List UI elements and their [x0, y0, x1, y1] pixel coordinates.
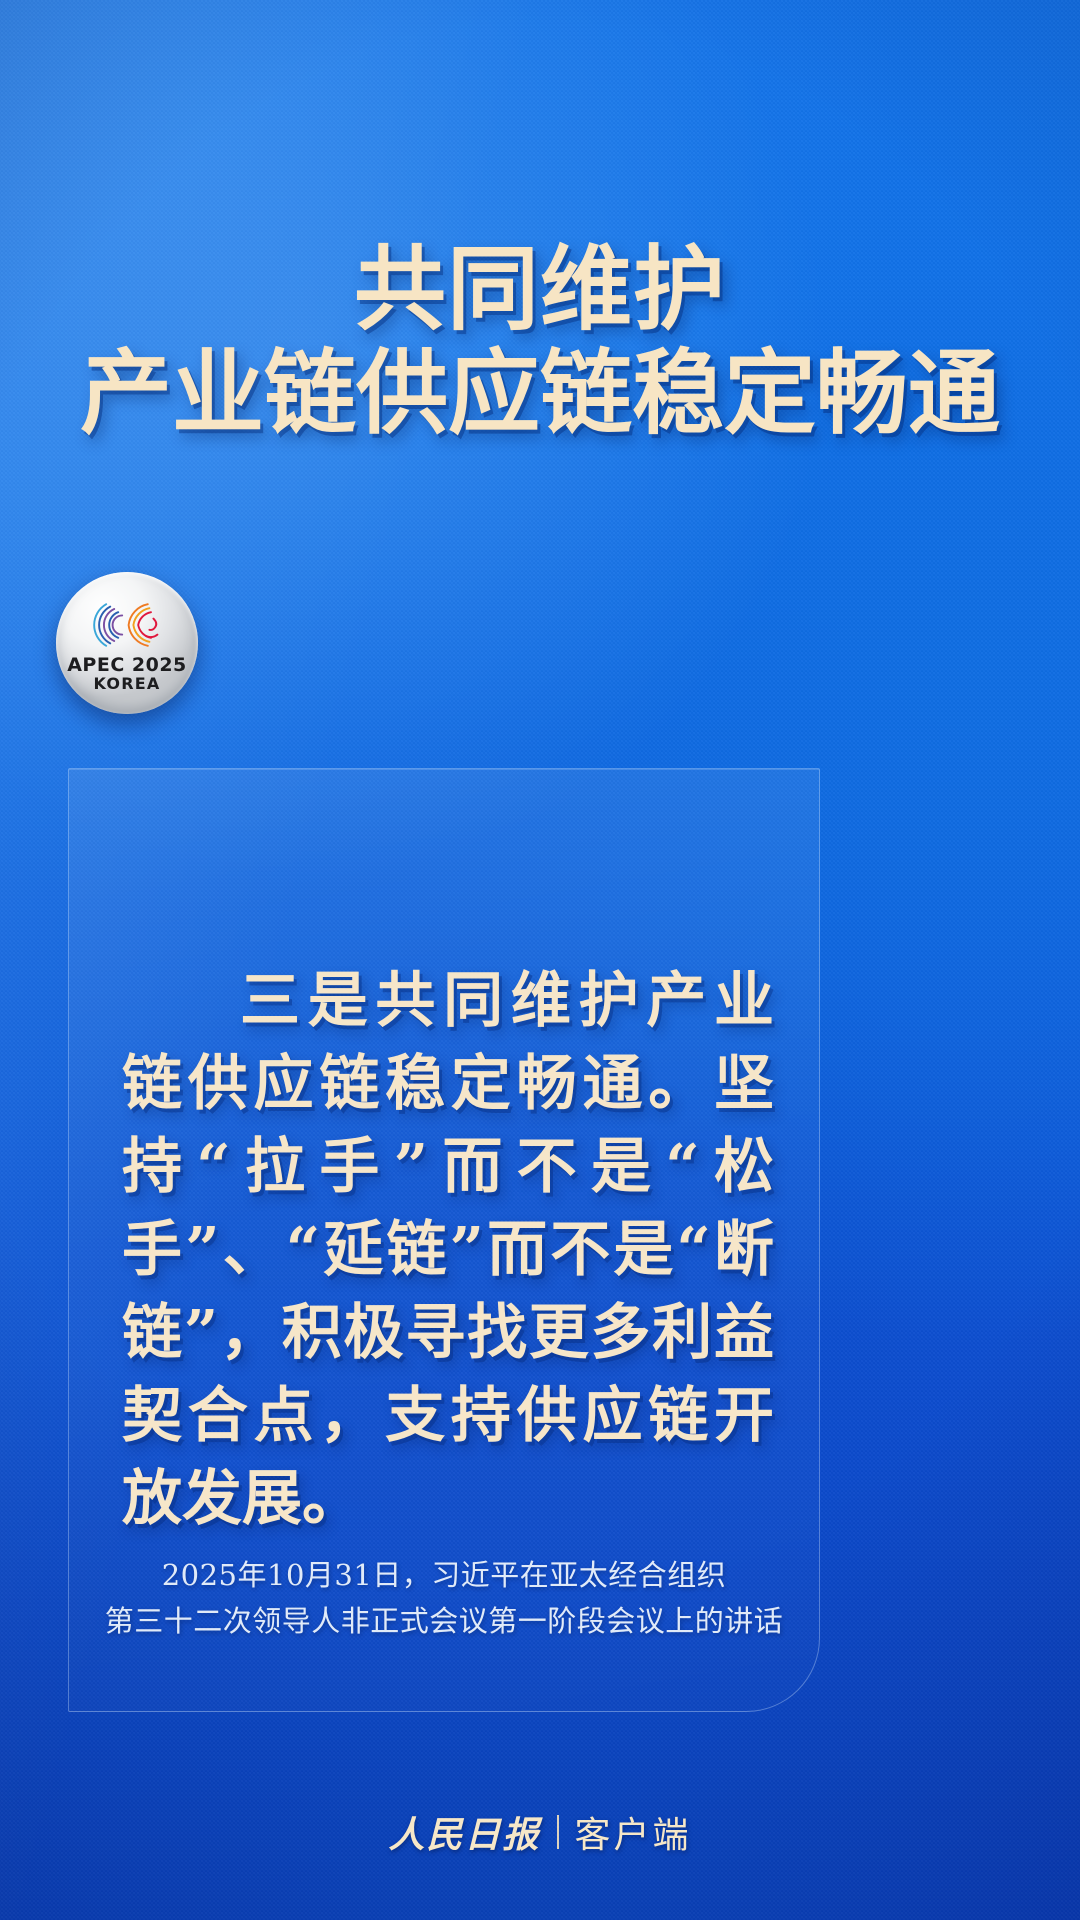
title-line-1: 共同维护: [0, 238, 1080, 342]
attribution-line-2: 第三十二次领导人非正式会议第一阶段会议上的讲话: [68, 1598, 820, 1644]
apec-face-arcs-icon: [79, 596, 175, 654]
apec-logo-text-primary: APEC 2025: [67, 655, 187, 675]
peoples-daily-wordmark: 人民日报: [388, 1806, 540, 1858]
title-line-2: 产业链供应链稳定畅通: [0, 342, 1080, 446]
apec-2025-korea-logo: APEC 2025 KOREA: [56, 572, 198, 714]
attribution-line-1: 2025年10月31日，习近平在亚太经合组织: [68, 1552, 820, 1598]
poster-canvas: 共同维护 产业链供应链稳定畅通 APEC 2025 KOREA 三是共同维护产业…: [0, 0, 1080, 1920]
brand-divider: [557, 1815, 559, 1849]
page-title: 共同维护 产业链供应链稳定畅通: [0, 238, 1080, 446]
client-app-label: 客户端: [575, 1806, 692, 1858]
quote-text: 三是共同维护产业链供应链稳定畅通。坚持“拉手”而不是“松手”、“延链”而不是“断…: [122, 960, 774, 1541]
attribution: 2025年10月31日，习近平在亚太经合组织 第三十二次领导人非正式会议第一阶段…: [68, 1552, 820, 1644]
apec-logo-text-secondary: KOREA: [94, 675, 161, 693]
footer-brand: 人民日报 客户端: [0, 1806, 1080, 1858]
